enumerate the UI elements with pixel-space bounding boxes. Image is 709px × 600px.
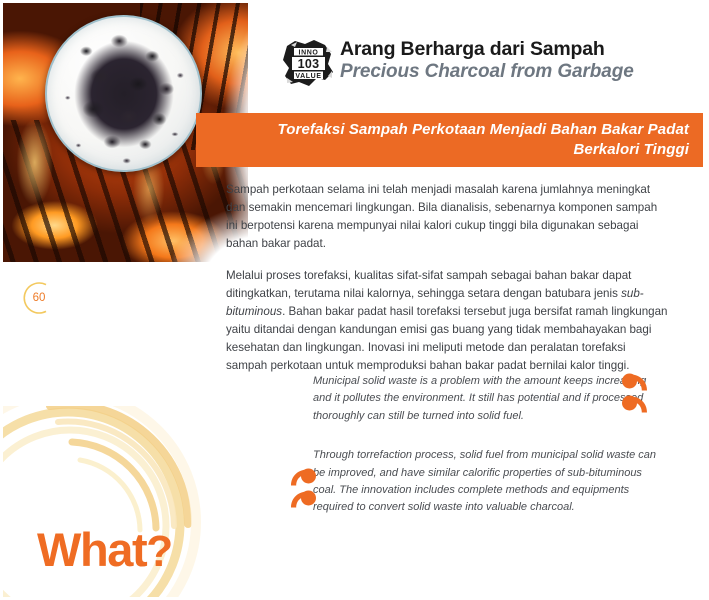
what-heading: What? xyxy=(37,526,172,574)
page-number: 60 xyxy=(22,281,56,315)
banner-line-1: Torefaksi Sampah Perkotaan Menjadi Bahan… xyxy=(278,121,689,138)
quote-paragraph-1: Municipal solid waste is a problem with … xyxy=(313,373,663,425)
page-title-english: Precious Charcoal from Garbage xyxy=(340,61,700,84)
body-paragraph-1: Sampah perkotaan selama ini telah menjad… xyxy=(226,181,668,253)
what-question-mark: ? xyxy=(146,527,171,576)
quote-paragraph-2: Through torrefaction process, solid fuel… xyxy=(313,447,663,517)
body-paragraph-2-part-b: . Bahan bakar padat hasil torefaksi ters… xyxy=(226,305,668,372)
body-paragraph-2-part-a: Melalui proses torefaksi, kualitas sifat… xyxy=(226,269,631,300)
what-word: What xyxy=(37,523,146,576)
banner-text-block: Torefaksi Sampah Perkotaan Menjadi Bahan… xyxy=(196,120,703,161)
body-copy-indonesian: Sampah perkotaan selama ini telah menjad… xyxy=(226,181,668,389)
closing-quote-icon xyxy=(620,372,660,416)
body-paragraph-2: Melalui proses torefaksi, kualitas sifat… xyxy=(226,267,668,375)
english-quote-block: Municipal solid waste is a problem with … xyxy=(313,373,663,539)
header-title-group: Arang Berharga dari Sampah Precious Char… xyxy=(340,38,700,84)
inno-103-value-badge-icon: INNO 103 VALUE xyxy=(281,38,337,90)
badge-line2: 103 xyxy=(298,57,320,71)
opening-quote-icon xyxy=(278,467,318,511)
badge-line1: INNO xyxy=(299,49,319,56)
banner-line-2: Berkalori Tinggi xyxy=(573,141,689,158)
orange-subtitle-banner: Torefaksi Sampah Perkotaan Menjadi Bahan… xyxy=(196,113,703,167)
page-canvas: INNO 103 VALUE Arang Berharga dari Sampa… xyxy=(0,0,709,600)
badge-line3: VALUE xyxy=(295,73,321,80)
page-title-indonesian: Arang Berharga dari Sampah xyxy=(340,38,700,60)
page-number-group: 60 xyxy=(22,281,56,315)
